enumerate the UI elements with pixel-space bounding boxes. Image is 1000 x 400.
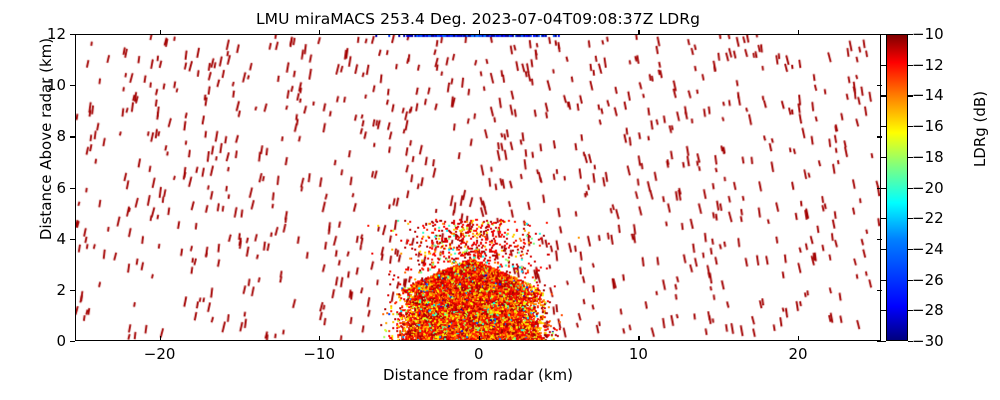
colorbar-label: LDRg (dB) [971,0,989,279]
x-tick-label: 20 [788,345,807,363]
figure-canvas: LMU miraMACS 253.4 Deg. 2023-07-04T09:08… [0,0,1000,400]
colorbar-tick-mark-inner [881,95,886,96]
colorbar-tick-mark-inner [881,280,886,281]
colorbar-tick-label: −10 [912,25,944,43]
y-tick-mark [70,290,75,291]
colorbar-gradient [886,34,908,341]
x-tick-mark-top [319,30,320,35]
x-tick-mark [319,336,320,341]
y-tick-label: 4 [56,230,66,248]
y-tick-mark [70,188,75,189]
y-tick-label: 8 [56,127,66,145]
y-tick-mark-right [877,290,882,291]
x-tick-mark-top [479,30,480,35]
x-tick-mark-top [798,30,799,35]
colorbar-tick-label: −16 [912,117,944,135]
colorbar-tick-mark-inner [881,310,886,311]
colorbar[interactable] [886,34,908,341]
colorbar-tick-mark-inner [881,188,886,189]
x-tick-label: −20 [144,345,176,363]
y-tick-mark [70,341,75,342]
x-tick-mark-top [160,30,161,35]
colorbar-tick-mark-inner [881,65,886,66]
y-tick-label: 0 [56,332,66,350]
y-tick-mark-right [877,85,882,86]
colorbar-tick-mark-inner [881,341,886,342]
x-tick-mark [798,336,799,341]
colorbar-tick-label: −30 [912,332,944,350]
y-tick-mark-right [877,136,882,137]
y-tick-mark [70,136,75,137]
x-tick-label: −10 [303,345,335,363]
y-tick-mark [70,239,75,240]
colorbar-tick-mark-inner [881,218,886,219]
colorbar-tick-label: −14 [912,86,944,104]
x-tick-mark [160,336,161,341]
y-tick-label: 6 [56,179,66,197]
colorbar-tick-label: −20 [912,179,944,197]
colorbar-tick-label: −12 [912,56,944,74]
x-axis-label: Distance from radar (km) [75,366,881,384]
y-tick-mark [70,85,75,86]
x-tick-label: 10 [629,345,648,363]
plot-area[interactable] [75,34,881,341]
colorbar-tick-mark-inner [881,126,886,127]
x-tick-mark [638,336,639,341]
colorbar-tick-label: −24 [912,240,944,258]
y-axis-label: Distance Above radar (km) [37,0,55,289]
x-tick-label: 0 [474,345,484,363]
scatter-canvas [76,35,880,340]
y-tick-label: 2 [56,281,66,299]
colorbar-tick-label: −18 [912,148,944,166]
colorbar-tick-mark-inner [881,157,886,158]
x-tick-mark-top [638,30,639,35]
y-tick-mark [70,34,75,35]
colorbar-tick-label: −28 [912,301,944,319]
colorbar-tick-mark-inner [881,34,886,35]
colorbar-tick-label: −22 [912,209,944,227]
colorbar-tick-mark-inner [881,249,886,250]
y-tick-mark-right [877,239,882,240]
chart-title: LMU miraMACS 253.4 Deg. 2023-07-04T09:08… [75,10,881,28]
x-tick-mark [479,336,480,341]
colorbar-tick-label: −26 [912,271,944,289]
